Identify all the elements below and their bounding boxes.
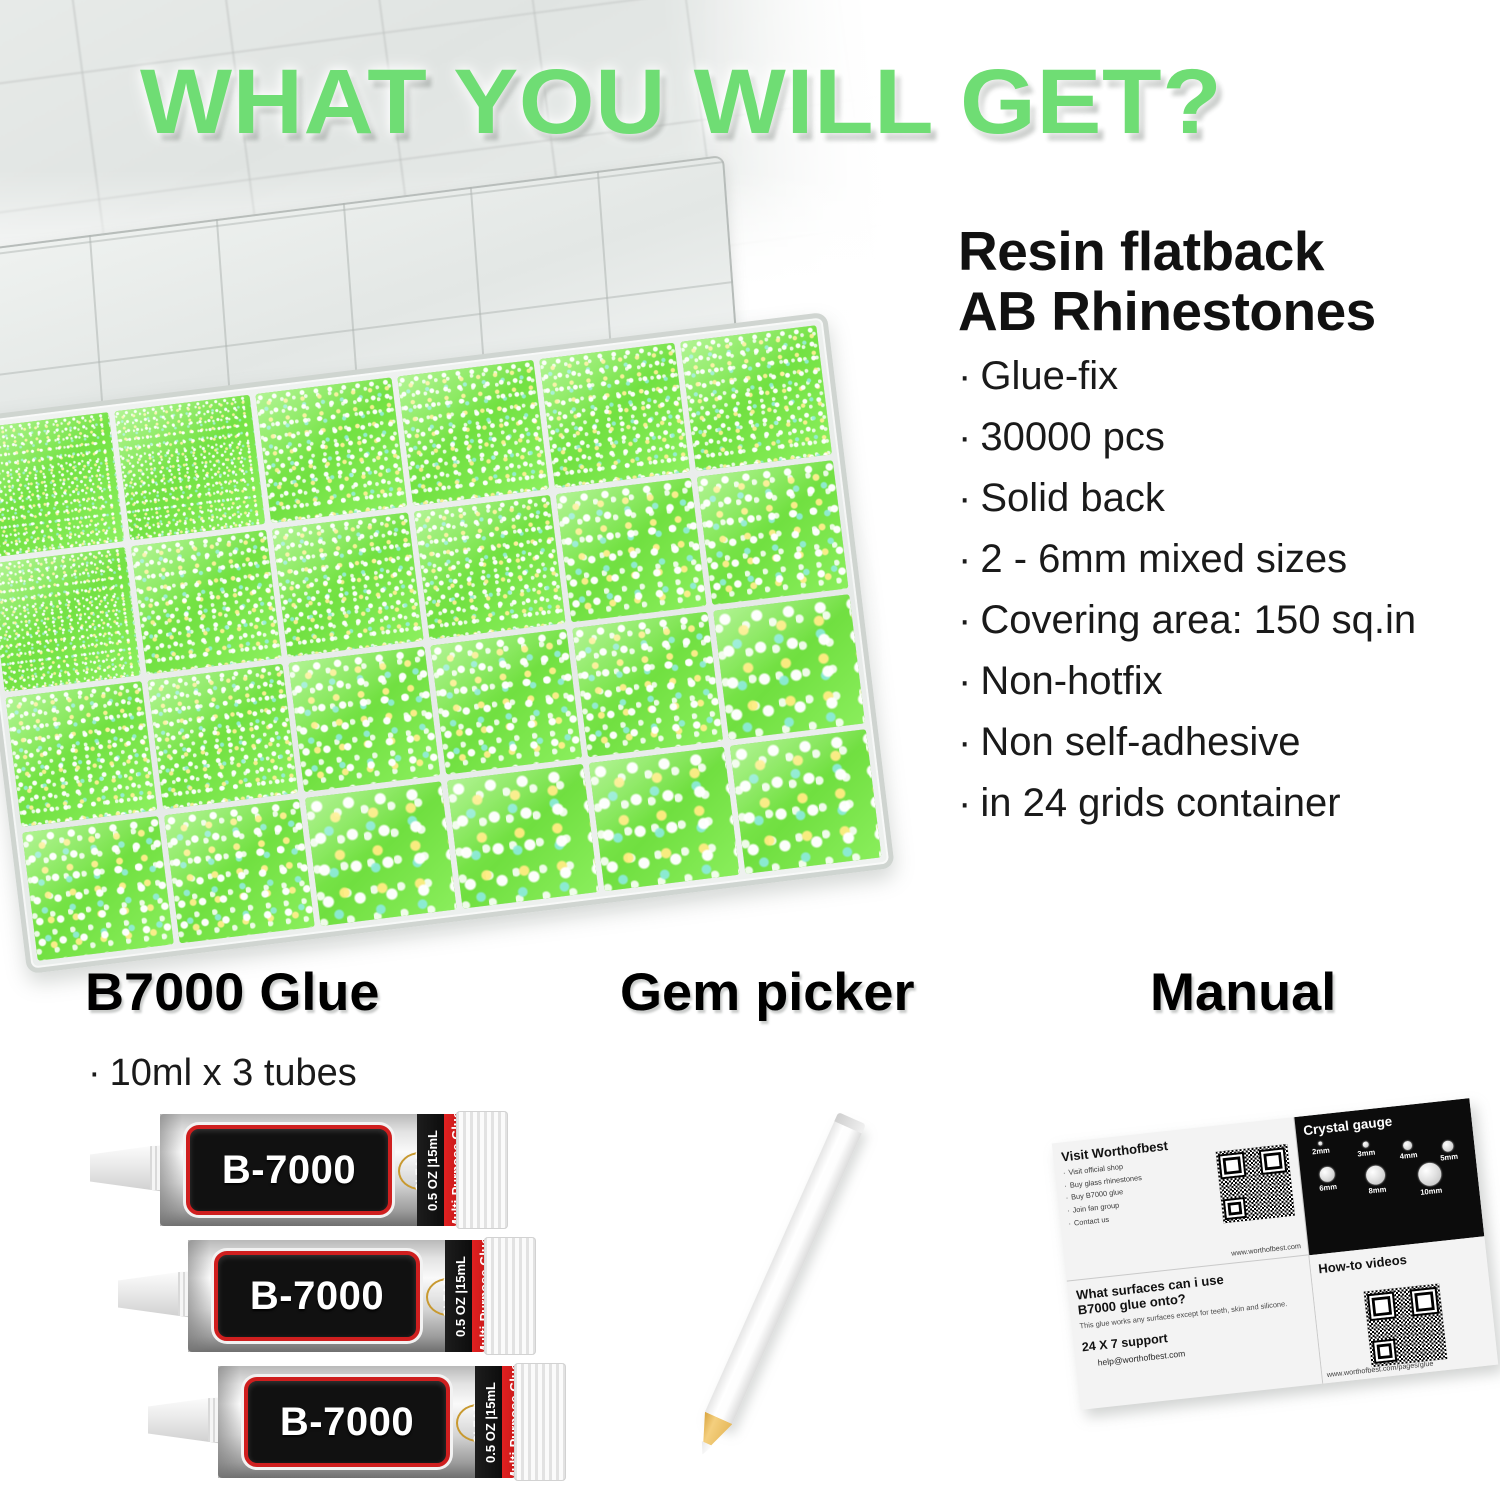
visit-url: www.worthofbest.com	[1231, 1241, 1301, 1257]
bullet-marker-icon: ·	[88, 1052, 101, 1094]
compartment-gloss	[539, 343, 690, 488]
compartment-gloss	[272, 512, 423, 657]
feature-bullet-label: Solid back	[980, 476, 1165, 520]
feature-heading-line2: AB Rhinestones	[958, 280, 1376, 342]
rhinestone-compartment	[22, 816, 173, 961]
tube-crimp	[514, 1363, 566, 1481]
tube-volume-label: 0.5 OZ |15mL	[483, 1382, 498, 1463]
qr-code-shop-icon	[1215, 1144, 1294, 1223]
tube-volume-strip: 0.5 OZ |15mL	[445, 1240, 475, 1352]
feature-bullet: ·Glue-fix	[958, 356, 1498, 396]
rhinestone-compartment	[6, 681, 157, 826]
bullet-marker-icon: ·	[958, 598, 971, 642]
container-tray	[0, 312, 895, 974]
rhinestone-compartment	[714, 594, 865, 739]
rhinestone-compartment	[539, 343, 690, 488]
gauge-size-label: 4mm	[1399, 1150, 1418, 1161]
tube-nozzle	[148, 1396, 224, 1444]
rhinestone-container-image	[0, 215, 900, 945]
manual-card: Visit Worthofbest ·Visit official shop·B…	[1052, 1098, 1498, 1410]
bullet-marker-icon: ·	[958, 781, 971, 825]
compartment-gloss	[730, 729, 881, 874]
compartment-gloss	[164, 798, 315, 943]
gauge-crystal-icon	[1318, 1166, 1335, 1183]
feature-bullet-label: 30000 pcs	[980, 415, 1165, 459]
feature-bullet: ·30000 pcs	[958, 417, 1498, 457]
bullet-marker-icon: ·	[958, 720, 971, 764]
rhinestone-compartment	[588, 746, 739, 891]
feature-bullet-label: Non self-adhesive	[980, 720, 1300, 764]
gem-picker-image	[640, 1090, 1010, 1480]
feature-bullet: ·Non self-adhesive	[958, 722, 1498, 762]
bullet-marker-icon: ·	[958, 415, 971, 459]
section-heading-gem-picker: Gem picker	[620, 962, 914, 1023]
bullet-marker-icon: ·	[1063, 1168, 1066, 1177]
gauge-size-label: 6mm	[1319, 1182, 1338, 1193]
glue-tube: B-7000CLEAR0.5 OZ |15mLMulti-Purpose Glu…	[148, 1366, 568, 1478]
rhinestone-compartment	[447, 763, 598, 908]
rhinestone-compartment	[164, 798, 315, 943]
tube-brand-plate: B-7000	[214, 1251, 420, 1341]
compartment-gloss	[0, 547, 140, 692]
compartment-gloss	[289, 646, 440, 791]
gauge-crystal-icon	[1318, 1142, 1322, 1146]
feature-bullet: ·Solid back	[958, 478, 1498, 518]
gauge-sample: 5mm	[1439, 1140, 1459, 1163]
compartment-gloss	[256, 377, 407, 522]
tube-body: B-7000CLEAR0.5 OZ |15mLMulti-Purpose Glu…	[218, 1366, 518, 1478]
compartment-gloss	[430, 629, 581, 774]
gauge-sample: 10mm	[1417, 1162, 1443, 1197]
bullet-marker-icon: ·	[958, 354, 971, 398]
tube-brand-plate: B-7000	[244, 1377, 450, 1467]
tube-volume-strip: 0.5 OZ |15mL	[475, 1366, 505, 1478]
compartment-gloss	[588, 746, 739, 891]
rhinestone-compartment	[0, 412, 124, 557]
tube-body: B-7000CLEAR0.5 OZ |15mLMulti-Purpose Glu…	[188, 1240, 488, 1352]
gauge-size-label: 10mm	[1419, 1186, 1443, 1197]
feature-bullet-list: ·Glue-fix·30000 pcs·Solid back·2 - 6mm m…	[958, 356, 1498, 823]
rhinestone-compartment	[555, 477, 706, 622]
compartment-gloss	[397, 360, 548, 505]
tube-nozzle	[90, 1144, 166, 1192]
gem-picker-pencil	[704, 1112, 866, 1426]
tube-volume-label: 0.5 OZ |15mL	[425, 1130, 440, 1211]
tube-brand-label: B-7000	[280, 1400, 414, 1445]
rhinestone-compartment	[272, 512, 423, 657]
tube-volume-label: 0.5 OZ |15mL	[453, 1256, 468, 1337]
visit-link-label: Contact us	[1073, 1215, 1109, 1228]
rhinestone-compartment	[697, 460, 848, 605]
card-quadrant-videos: How-to videos www.worthofbest.com/pages/…	[1309, 1236, 1498, 1383]
feature-bullet-label: Non-hotfix	[980, 659, 1162, 703]
rhinestone-compartment	[256, 377, 407, 522]
rhinestone-compartment	[681, 325, 832, 470]
compartment-gloss	[572, 612, 723, 757]
gauge-size-label: 5mm	[1440, 1152, 1459, 1163]
rhinestone-compartment	[730, 729, 881, 874]
bullet-marker-icon: ·	[1067, 1206, 1070, 1215]
feature-bullet-label: Glue-fix	[980, 354, 1118, 398]
card-quadrant-gauge: Crystal gauge 2mm3mm4mm5mm6mm8mm10mm	[1294, 1098, 1484, 1255]
bullet-marker-icon: ·	[958, 537, 971, 581]
feature-heading: Resin flatback AB Rhinestones	[958, 222, 1498, 342]
tube-brand-label: B-7000	[250, 1274, 384, 1319]
gauge-crystal-icon	[1362, 1141, 1369, 1148]
compartment-gloss	[714, 594, 865, 739]
bullet-marker-icon: ·	[1065, 1194, 1068, 1203]
rhinestone-compartment	[430, 629, 581, 774]
tube-nozzle	[118, 1270, 194, 1318]
compartment-gloss	[414, 494, 565, 639]
section-heading-manual: Manual	[1150, 962, 1336, 1023]
manual-card-image: Visit Worthofbest ·Visit official shop·B…	[1065, 1120, 1490, 1410]
feature-heading-line1: Resin flatback	[958, 220, 1324, 282]
glue-tube-stack: B-7000CLEAR0.5 OZ |15mLMulti-Purpose Glu…	[70, 1110, 590, 1492]
pencil-cap	[834, 1112, 865, 1133]
bullet-marker-icon: ·	[958, 476, 971, 520]
pencil-wax-tip	[693, 1412, 733, 1452]
tube-body: B-7000CLEAR0.5 OZ |15mLMulti-Purpose Glu…	[160, 1114, 460, 1226]
section-heading-glue: B7000 Glue	[85, 962, 379, 1023]
feature-column: Resin flatback AB Rhinestones ·Glue-fix·…	[958, 222, 1498, 844]
feature-bullet-label: 2 - 6mm mixed sizes	[980, 537, 1347, 581]
gauge-sample: 4mm	[1398, 1140, 1418, 1161]
bullet-marker-icon: ·	[958, 659, 971, 703]
feature-bullet-label: in 24 grids container	[980, 781, 1340, 825]
compartment-gloss	[114, 395, 265, 540]
rhinestone-compartment	[114, 395, 265, 540]
compartment-gloss	[681, 325, 832, 470]
gauge-size-label: 2mm	[1312, 1146, 1331, 1157]
gauge-crystal-icon	[1442, 1140, 1454, 1152]
compartment-gloss	[6, 681, 157, 826]
infographic-page: WHAT YOU WILL GET? Resin flatback AB Rhi…	[0, 0, 1500, 1492]
feature-bullet: ·in 24 grids container	[958, 783, 1498, 823]
gauge-sample: 6mm	[1317, 1166, 1337, 1193]
compartment-gloss	[447, 763, 598, 908]
feature-bullet: ·2 - 6mm mixed sizes	[958, 539, 1498, 579]
gauge-sample: 3mm	[1356, 1141, 1375, 1159]
glue-tube: B-7000CLEAR0.5 OZ |15mLMulti-Purpose Glu…	[90, 1114, 510, 1226]
gauge-size-label: 8mm	[1368, 1185, 1388, 1196]
tube-brand-plate: B-7000	[186, 1125, 392, 1215]
page-title: WHAT YOU WILL GET?	[140, 56, 1500, 148]
rhinestone-compartment	[289, 646, 440, 791]
rhinestone-compartment	[0, 547, 140, 692]
rhinestone-compartment	[572, 612, 723, 757]
bullet-marker-icon: ·	[1068, 1219, 1071, 1228]
glue-quantity-line: ·10ml x 3 tubes	[88, 1052, 357, 1095]
rhinestone-compartment	[397, 360, 548, 505]
glue-tube: B-7000CLEAR0.5 OZ |15mLMulti-Purpose Glu…	[118, 1240, 538, 1352]
card-quadrant-surfaces: What surfaces can i use B7000 glue onto?…	[1067, 1255, 1323, 1409]
compartment-gloss	[147, 664, 298, 809]
rhinestone-compartment	[414, 494, 565, 639]
feature-bullet: ·Covering area: 150 sq.in	[958, 600, 1498, 640]
gauge-crystal-icon	[1417, 1162, 1442, 1187]
gauge-crystal-icon	[1365, 1165, 1386, 1186]
compartment-gloss	[0, 412, 124, 557]
gauge-sample: 2mm	[1311, 1141, 1330, 1157]
compartment-gloss	[305, 781, 456, 926]
glue-quantity-text: 10ml x 3 tubes	[110, 1052, 357, 1094]
rhinestone-compartment	[131, 529, 282, 674]
gauge-size-label: 3mm	[1357, 1148, 1376, 1159]
compartment-gloss	[555, 477, 706, 622]
qr-code-videos-icon	[1363, 1284, 1447, 1368]
bullet-marker-icon: ·	[1064, 1181, 1067, 1190]
crystal-gauge-samples: 2mm3mm4mm5mm6mm8mm10mm	[1305, 1125, 1473, 1216]
rhinestone-compartment	[147, 664, 298, 809]
rhinestone-compartment	[305, 781, 456, 926]
compartment-gloss	[131, 529, 282, 674]
compartment-gloss	[22, 816, 173, 961]
compartment-gloss	[697, 460, 848, 605]
card-quadrant-visit: Visit Worthofbest ·Visit official shop·B…	[1052, 1117, 1309, 1282]
gauge-crystal-icon	[1402, 1140, 1412, 1150]
rhinestone-grid	[0, 325, 881, 961]
gauge-sample: 8mm	[1365, 1165, 1387, 1196]
feature-bullet-label: Covering area: 150 sq.in	[980, 598, 1416, 642]
tube-brand-label: B-7000	[222, 1148, 356, 1193]
tube-volume-strip: 0.5 OZ |15mL	[417, 1114, 447, 1226]
tube-crimp	[484, 1237, 536, 1355]
feature-bullet: ·Non-hotfix	[958, 661, 1498, 701]
tube-crimp	[456, 1111, 508, 1229]
